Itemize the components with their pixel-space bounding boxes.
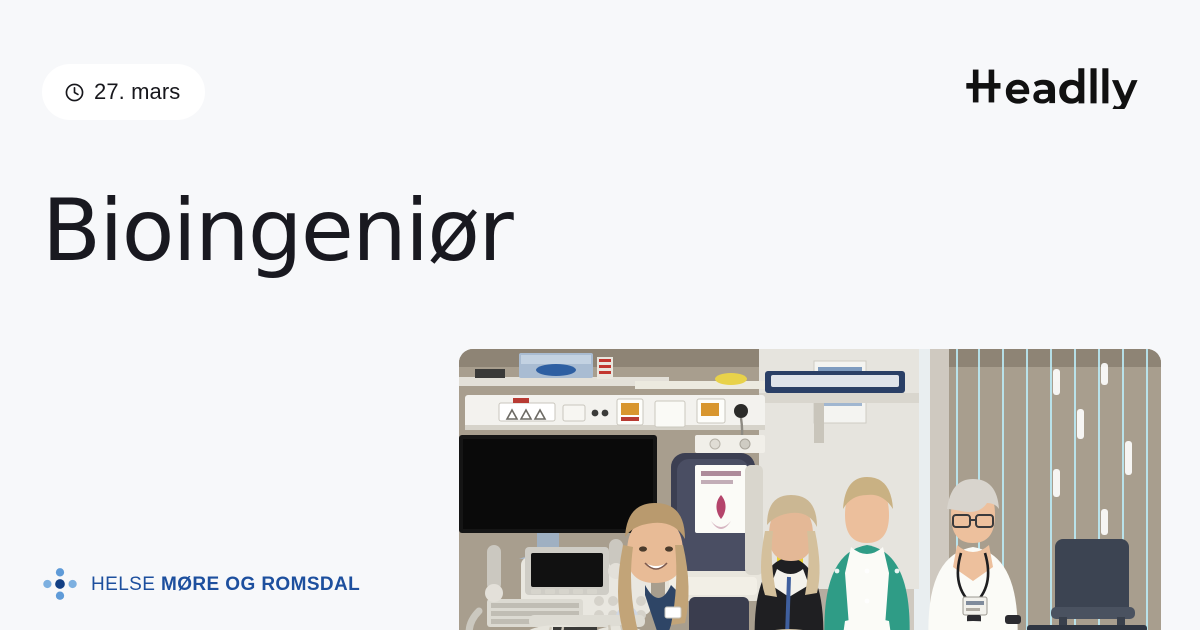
publisher-name-bold: MØRE OG ROMSDAL <box>161 574 360 595</box>
date-badge: 27. mars <box>42 64 205 120</box>
share-card: 27. mars Bioi <box>0 0 1200 630</box>
publisher-name-light: HELSE <box>91 574 155 595</box>
article-photo <box>459 349 1161 630</box>
publisher-name: HELSE MØRE OG ROMSDAL <box>91 575 360 594</box>
dot-cluster-icon <box>42 566 78 602</box>
headly-logo[interactable] <box>965 63 1162 109</box>
publisher-logo: HELSE MØRE OG ROMSDAL <box>42 566 360 602</box>
date-label: 27. mars <box>94 81 180 103</box>
page-title: Bioingeniør <box>42 186 742 276</box>
clock-icon <box>64 82 85 103</box>
